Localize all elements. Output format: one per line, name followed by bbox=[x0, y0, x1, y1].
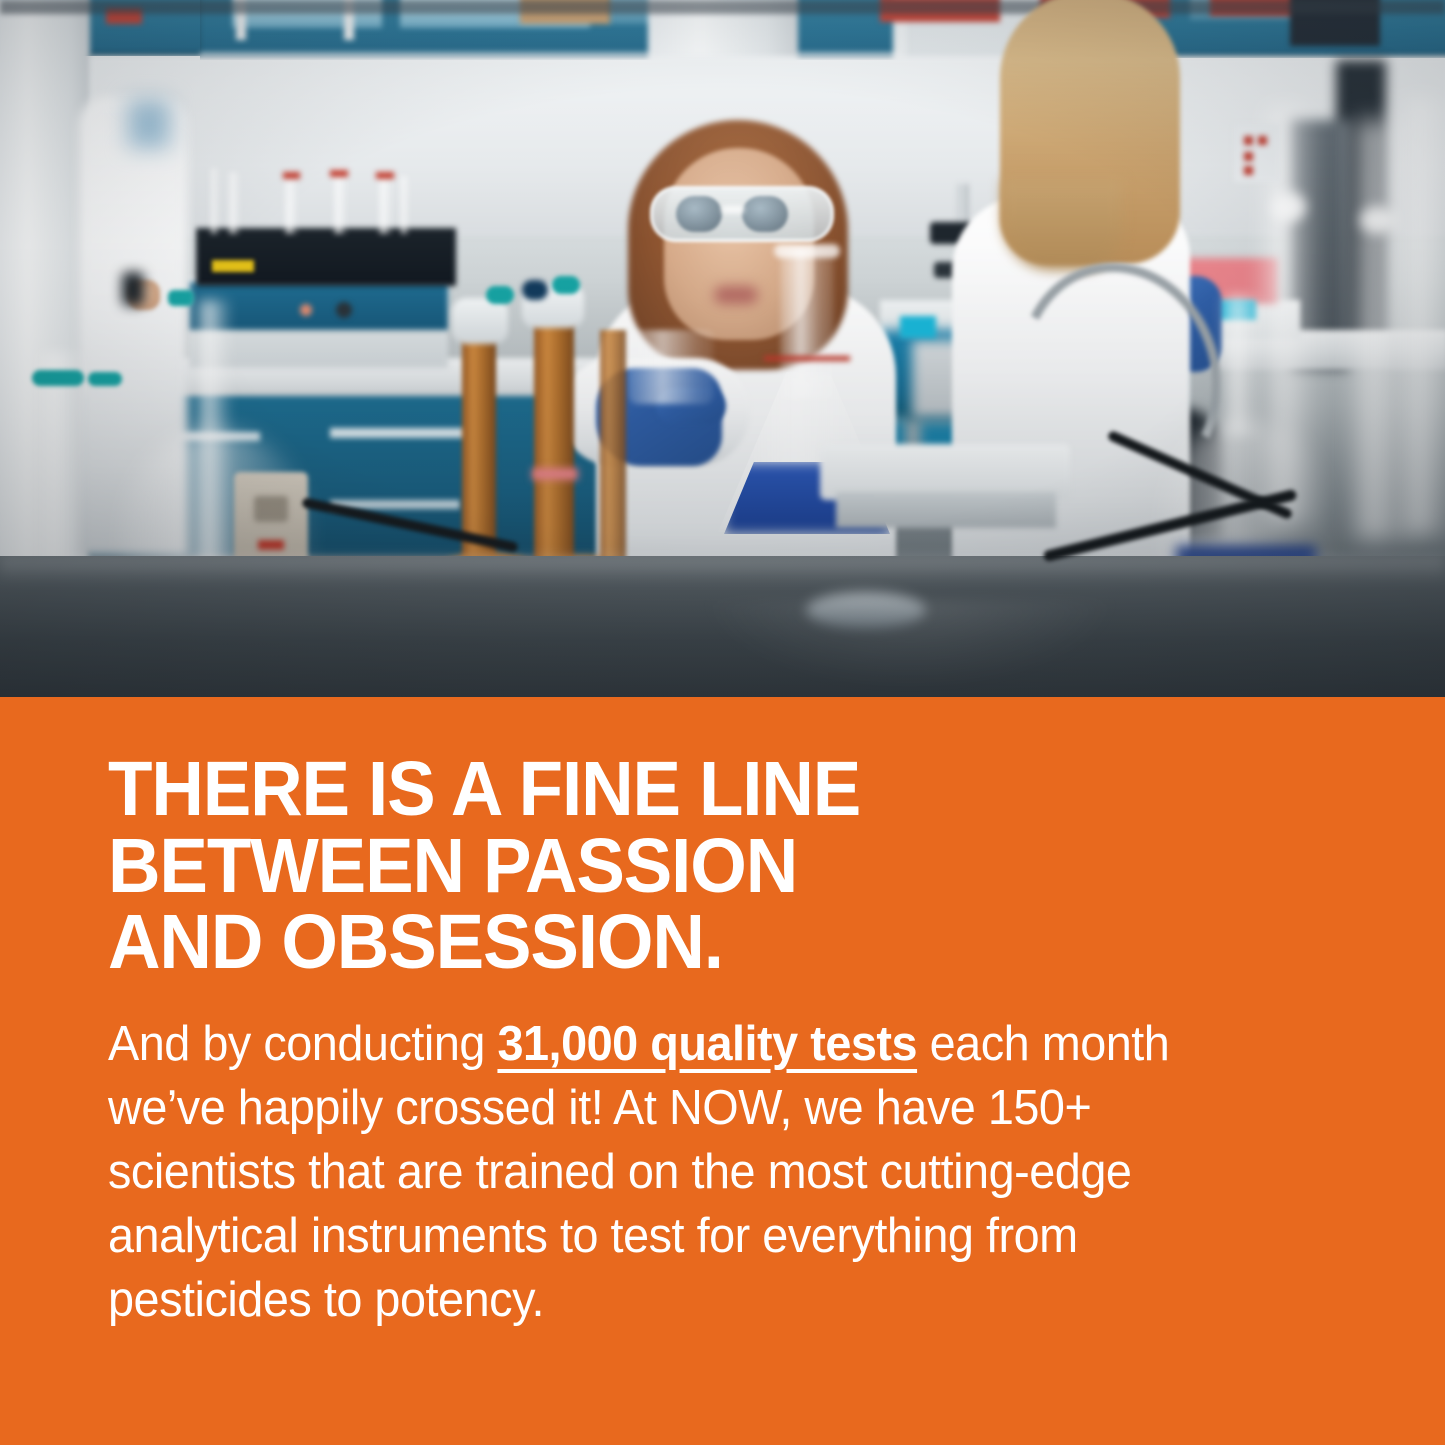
quality-tests-highlight: 31,000 quality tests bbox=[497, 1017, 917, 1071]
body-copy: And by conducting 31,000 quality tests e… bbox=[108, 1013, 1282, 1333]
copy-panel: THERE IS A FINE LINE BETWEEN PASSION AND… bbox=[0, 697, 1445, 1445]
photo-vignette bbox=[0, 0, 1445, 697]
promo-card: 500 THERE IS A FINE LINE BET bbox=[0, 0, 1445, 1445]
lab-photo: 500 bbox=[0, 0, 1445, 697]
body-text-lead: And by conducting bbox=[108, 1017, 497, 1071]
headline: THERE IS A FINE LINE BETWEEN PASSION AND… bbox=[108, 751, 1269, 981]
